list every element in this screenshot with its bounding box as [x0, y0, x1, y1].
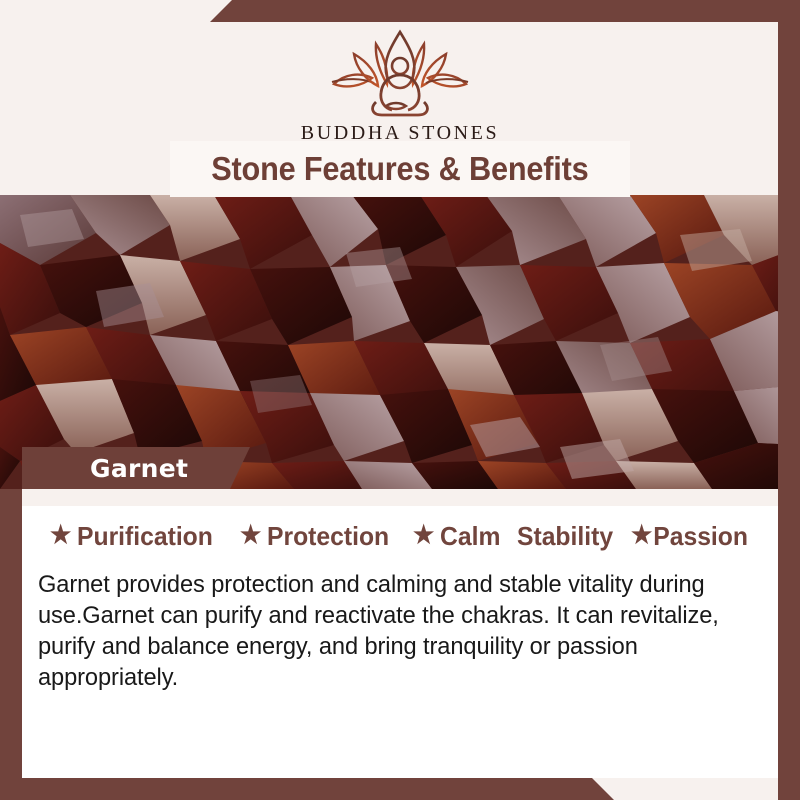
- infographic-page: BUDDHA STONES: [0, 0, 800, 800]
- benefit-label: Calm: [440, 523, 500, 549]
- benefit-item-purification: ★Purification: [50, 523, 213, 549]
- star-icon: ★: [413, 523, 434, 548]
- section-title-banner: Stone Features & Benefits: [170, 141, 630, 197]
- benefit-item-protection: ★Protection: [240, 523, 389, 549]
- benefit-label: Protection: [267, 523, 389, 549]
- description-card: ★Purification★Protection★Calm★Stability★…: [22, 489, 780, 778]
- frame-border-right: [778, 0, 800, 800]
- brand-logo: BUDDHA STONES: [0, 26, 800, 143]
- frame-border-bottom: [0, 778, 800, 800]
- benefits-list: ★Purification★Protection★Calm★Stability★…: [50, 523, 760, 549]
- description-text: Garnet provides protection and calming a…: [38, 569, 741, 693]
- garnet-crystal-cluster-photo: [0, 195, 800, 489]
- lotus-meditation-figure-icon: [320, 26, 480, 118]
- benefit-item-passion: ★Passion: [631, 523, 748, 549]
- benefit-label: Passion: [653, 523, 748, 549]
- page-title: Stone Features & Benefits: [211, 150, 588, 188]
- card-top-strip: [22, 489, 780, 506]
- benefit-item-calm: ★Calm: [413, 523, 500, 549]
- star-icon: ★: [240, 523, 261, 548]
- brand-name: BUDDHA STONES: [0, 123, 800, 143]
- stone-name-tag: Garnet: [22, 447, 250, 489]
- benefit-label: Stability: [517, 523, 613, 549]
- star-icon: ★: [50, 523, 71, 548]
- benefit-item-stability: ★Stability: [517, 523, 613, 549]
- benefit-label: Purification: [77, 523, 213, 549]
- star-icon: ★: [631, 523, 652, 548]
- frame-border-left: [0, 489, 22, 800]
- stone-name-label: Garnet: [90, 456, 188, 481]
